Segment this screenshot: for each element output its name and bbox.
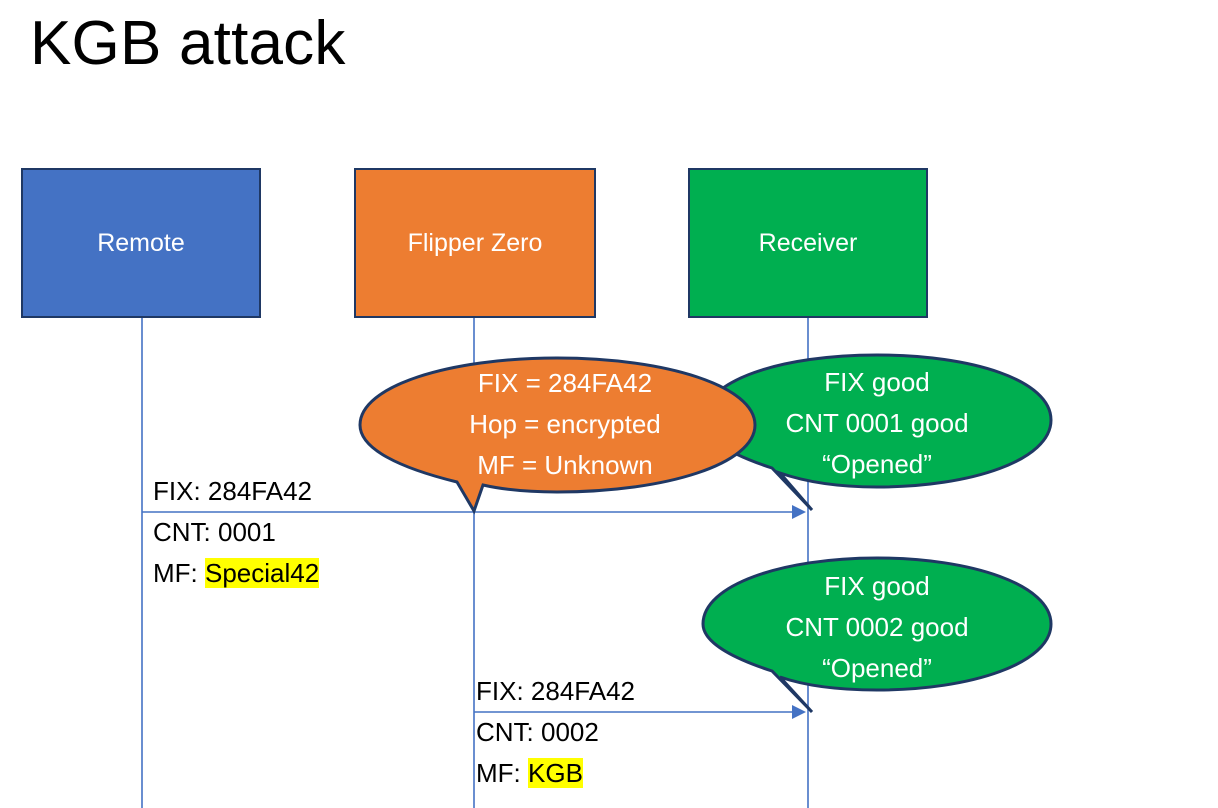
message-line-prefix: MF: xyxy=(476,758,528,788)
message-line-value-highlighted: Special42 xyxy=(205,558,319,588)
actor-label-receiver: Receiver xyxy=(759,229,858,258)
callout-receiver-second xyxy=(703,558,1051,712)
message-line: FIX: 284FA42 xyxy=(153,471,319,512)
actor-box-receiver[interactable]: Receiver xyxy=(688,168,928,318)
actor-box-remote[interactable]: Remote xyxy=(21,168,261,318)
message-line: MF: Special42 xyxy=(153,553,319,594)
message-line-prefix: FIX: xyxy=(153,476,208,506)
message-line: CNT: 0002 xyxy=(476,712,635,753)
message-line-prefix: CNT: xyxy=(476,717,541,747)
actor-label-remote: Remote xyxy=(97,229,185,258)
message-line-prefix: FIX: xyxy=(476,676,531,706)
message-line-value: 284FA42 xyxy=(531,676,635,706)
message-line: CNT: 0001 xyxy=(153,512,319,553)
message-arrowhead-2 xyxy=(792,705,806,719)
message-label-1: FIX: 284FA42 CNT: 0001 MF: Special42 xyxy=(153,471,319,594)
message-line: MF: KGB xyxy=(476,753,635,794)
message-line-prefix: CNT: xyxy=(153,517,218,547)
message-label-2: FIX: 284FA42 CNT: 0002 MF: KGB xyxy=(476,671,635,794)
message-line-value-highlighted: KGB xyxy=(528,758,583,788)
message-arrowhead-1 xyxy=(792,505,806,519)
message-line-value: 0001 xyxy=(218,517,276,547)
actor-label-flipper: Flipper Zero xyxy=(408,229,543,258)
message-line-value: 284FA42 xyxy=(208,476,312,506)
callout-flipper-capture xyxy=(360,358,755,511)
slide-canvas: KGB attack Remote Flipper Zero Rece xyxy=(0,0,1218,808)
actor-box-flipper[interactable]: Flipper Zero xyxy=(354,168,596,318)
message-line: FIX: 284FA42 xyxy=(476,671,635,712)
message-line-prefix: MF: xyxy=(153,558,205,588)
message-line-value: 0002 xyxy=(541,717,599,747)
